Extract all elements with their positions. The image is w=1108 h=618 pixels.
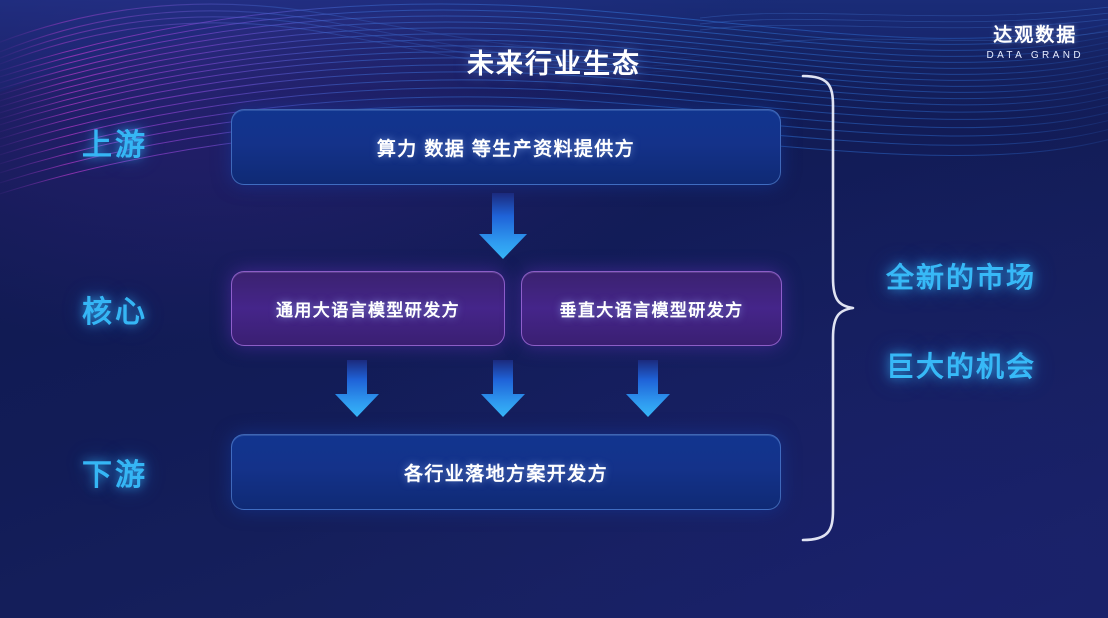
- arrow-general-to-downstream: [335, 360, 379, 417]
- slide-canvas: 达观数据 DATA GRAND 未来行业生态 上游 核心 下游 算力 数据 等生…: [0, 0, 1108, 618]
- flow-arrows-layer: [0, 0, 1108, 618]
- arrow-upstream-to-core: [479, 193, 527, 259]
- callout-new-market: 全新的市场: [886, 256, 1036, 296]
- arrow-core-to-downstream: [481, 360, 525, 417]
- arrow-vertical-to-downstream: [626, 360, 670, 417]
- callout-huge-opportunity: 巨大的机会: [886, 345, 1036, 385]
- grouping-brace: [795, 72, 865, 544]
